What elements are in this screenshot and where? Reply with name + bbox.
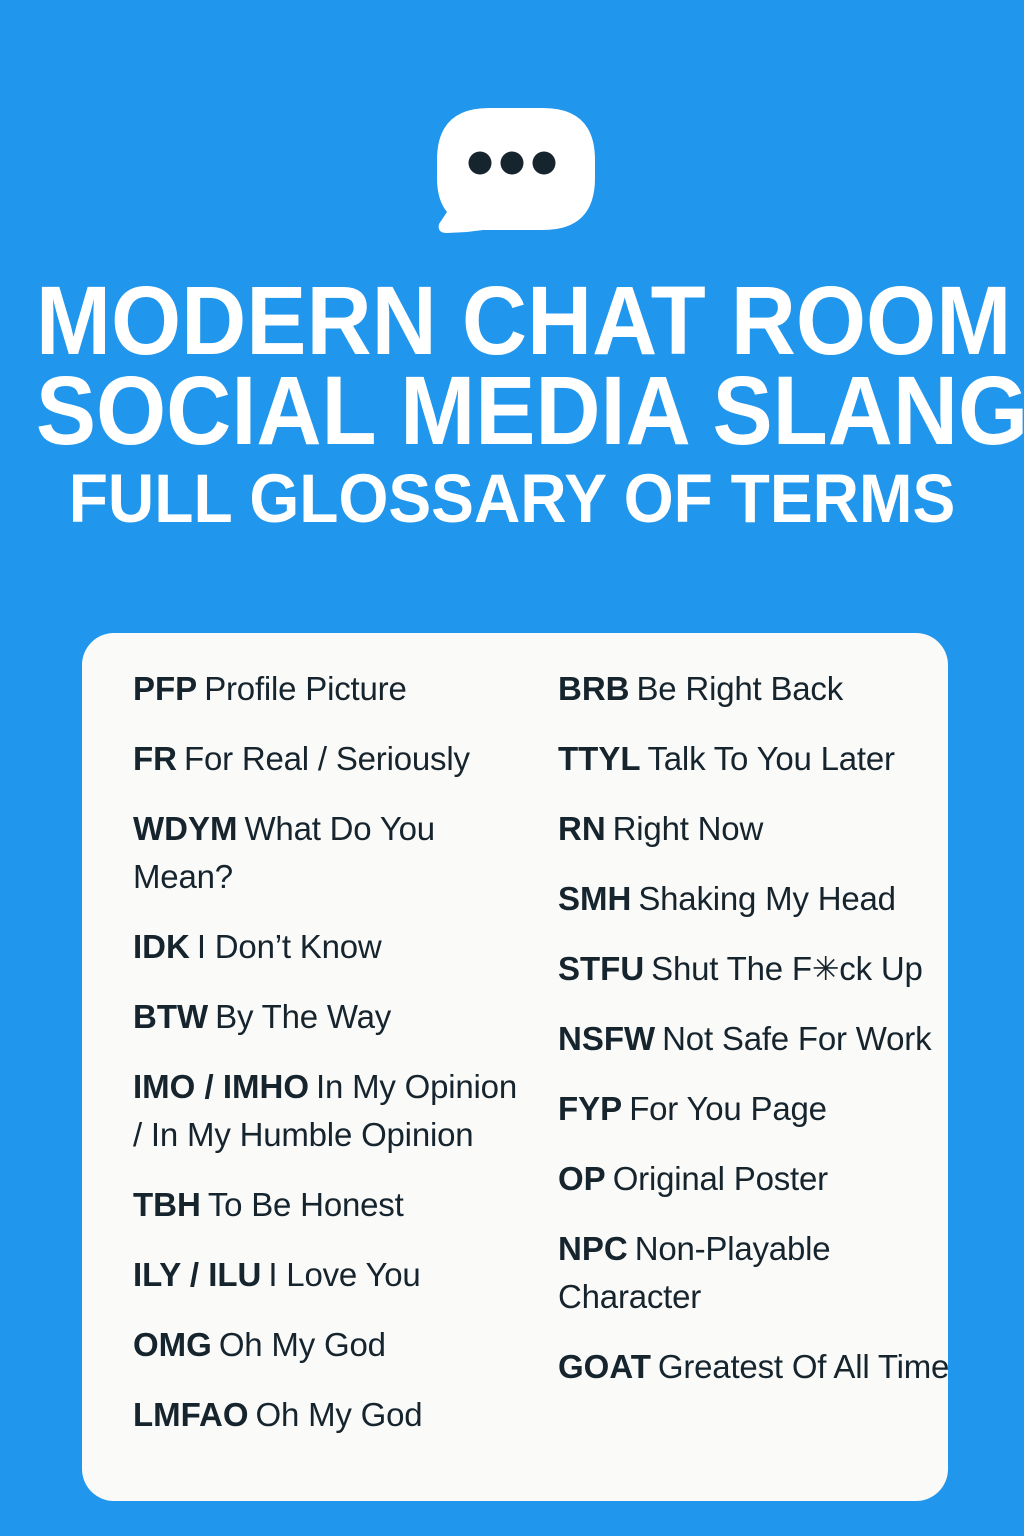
glossary-abbreviation: TTYL [558, 740, 640, 777]
glossary-columns: PFPProfile PictureFRFor Real / Seriously… [82, 633, 948, 1501]
glossary-abbreviation: ILY / ILU [133, 1256, 261, 1293]
glossary-abbreviation: IMO / IMHO [133, 1068, 309, 1105]
glossary-abbreviation: WDYM [133, 810, 237, 847]
glossary-abbreviation: OP [558, 1160, 606, 1197]
glossary-expansion: Oh My God [255, 1396, 422, 1433]
glossary-column-left: PFPProfile PictureFRFor Real / Seriously… [133, 665, 533, 1461]
glossary-abbreviation: BRB [558, 670, 630, 707]
page-subtitle: FULL GLOSSARY OF TERMS [36, 456, 988, 542]
glossary-expansion: Greatest Of All Time [658, 1348, 948, 1385]
glossary-entry: ILY / ILUI Love You [133, 1251, 533, 1299]
glossary-expansion: By The Way [215, 998, 391, 1035]
glossary-expansion: Be Right Back [637, 670, 844, 707]
glossary-entry: IMO / IMHOIn My Opinion / In My Humble O… [133, 1063, 533, 1159]
glossary-entry: RNRight Now [558, 805, 948, 853]
bubble-dot-2 [501, 152, 524, 175]
glossary-entry: OPOriginal Poster [558, 1155, 948, 1203]
glossary-entry: TBHTo Be Honest [133, 1181, 533, 1229]
glossary-entry: NSFWNot Safe For Work [558, 1015, 948, 1063]
glossary-abbreviation: OMG [133, 1326, 212, 1363]
glossary-abbreviation: PFP [133, 670, 197, 707]
glossary-entry: NPCNon-Playable Character [558, 1225, 948, 1321]
glossary-entry: TTYLTalk To You Later [558, 735, 948, 783]
glossary-entry: SMHShaking My Head [558, 875, 948, 923]
glossary-entry: BTWBy The Way [133, 993, 533, 1041]
glossary-card: PFPProfile PictureFRFor Real / Seriously… [82, 633, 948, 1501]
glossary-entry: STFUShut The F✳ck Up [558, 945, 948, 993]
glossary-expansion: Profile Picture [204, 670, 406, 707]
glossary-expansion: Shut The F✳ck Up [651, 950, 922, 987]
glossary-entry: PFPProfile Picture [133, 665, 533, 713]
glossary-entry: FYPFor You Page [558, 1085, 948, 1133]
glossary-expansion: For You Page [629, 1090, 827, 1127]
glossary-abbreviation: FYP [558, 1090, 622, 1127]
glossary-abbreviation: GOAT [558, 1348, 651, 1385]
glossary-entry: IDKI Don’t Know [133, 923, 533, 971]
glossary-abbreviation: BTW [133, 998, 208, 1035]
glossary-entry: WDYMWhat Do You Mean? [133, 805, 533, 901]
bubble-dot-3 [533, 152, 556, 175]
bubble-dot-1 [469, 152, 492, 175]
glossary-abbreviation: TBH [133, 1186, 201, 1223]
chat-bubble-icon [425, 100, 605, 240]
glossary-abbreviation: NPC [558, 1230, 628, 1267]
glossary-expansion: To Be Honest [208, 1186, 404, 1223]
glossary-abbreviation: RN [558, 810, 606, 847]
glossary-abbreviation: NSFW [558, 1020, 655, 1057]
glossary-expansion: Not Safe For Work [662, 1020, 931, 1057]
page-title: MODERN CHAT ROOM & SOCIAL MEDIA SLANG: F… [0, 276, 1024, 542]
glossary-abbreviation: LMFAO [133, 1396, 248, 1433]
title-line-2: SOCIAL MEDIA SLANG: [36, 366, 988, 456]
glossary-expansion: Talk To You Later [647, 740, 894, 777]
glossary-expansion: I Love You [268, 1256, 420, 1293]
glossary-entry: LMFAOOh My God [133, 1391, 533, 1439]
glossary-entry: BRBBe Right Back [558, 665, 948, 713]
title-line-1: MODERN CHAT ROOM & [36, 276, 988, 366]
glossary-expansion: Right Now [613, 810, 763, 847]
glossary-expansion: For Real / Seriously [184, 740, 470, 777]
glossary-abbreviation: SMH [558, 880, 631, 917]
glossary-expansion: Original Poster [613, 1160, 828, 1197]
glossary-entry: GOATGreatest Of All Time [558, 1343, 948, 1391]
glossary-entry: OMGOh My God [133, 1321, 533, 1369]
glossary-column-right: BRBBe Right BackTTYLTalk To You LaterRNR… [558, 665, 948, 1413]
glossary-abbreviation: FR [133, 740, 177, 777]
glossary-expansion: Shaking My Head [638, 880, 895, 917]
glossary-abbreviation: IDK [133, 928, 190, 965]
glossary-expansion: I Don’t Know [197, 928, 382, 965]
glossary-entry: FRFor Real / Seriously [133, 735, 533, 783]
glossary-expansion: Oh My God [219, 1326, 386, 1363]
glossary-abbreviation: STFU [558, 950, 644, 987]
